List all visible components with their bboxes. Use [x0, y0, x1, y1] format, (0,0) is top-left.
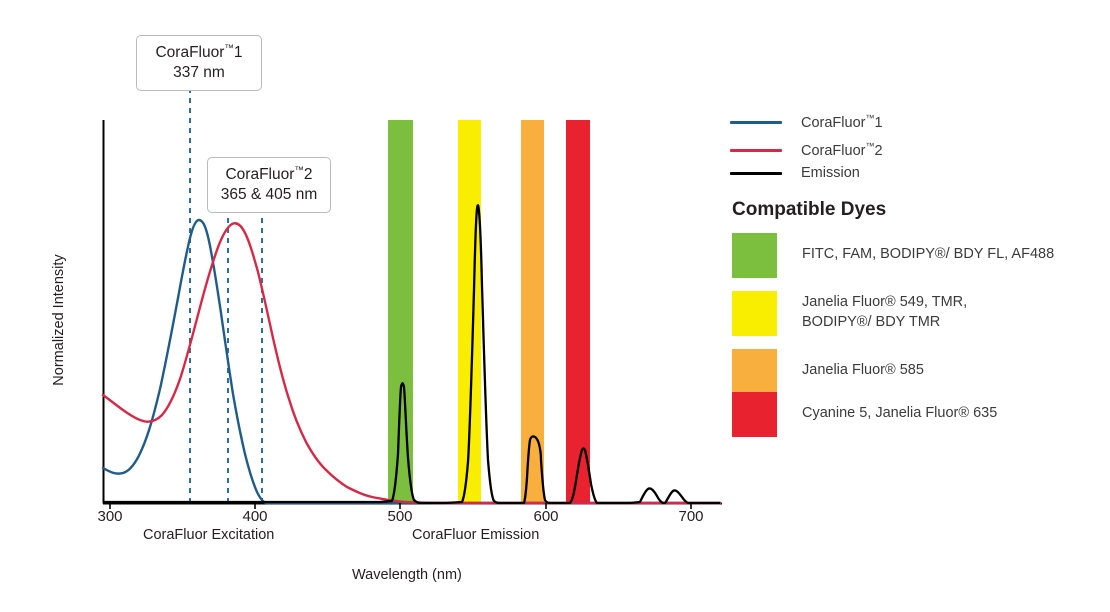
legend-line-swatch-corafluor-1 [730, 121, 782, 124]
dye-label-yellow: Janelia Fluor® 549, TMR, BODIPY®/ BDY TM… [802, 291, 967, 332]
callout-cf1-line2: 337 nm [147, 63, 251, 82]
dye-row-red: Cyanine 5, Janelia Fluor® 635 [732, 392, 997, 437]
dye-label-green: FITC, FAM, BODIPY®/ BDY FL, AF488 [802, 233, 1054, 265]
dye-swatch-yellow [732, 291, 777, 336]
plot-area: 300 400 500 600 700 CoraFluor Excitation… [0, 0, 730, 612]
dye-label-orange: Janelia Fluor® 585 [802, 349, 924, 381]
emission-range-label: CoraFluor Emission [412, 527, 539, 543]
fluorescence-spectra-figure: 300 400 500 600 700 CoraFluor Excitation… [0, 0, 1110, 612]
band-orange [521, 120, 544, 503]
y-axis-title: Normalized Intensity [51, 240, 67, 400]
legend-panel: CoraFluor™1 CoraFluor™2 Emission Compati… [728, 0, 1110, 612]
dye-label-red: Cyanine 5, Janelia Fluor® 635 [802, 392, 997, 424]
legend-line-swatch-emission [730, 172, 782, 175]
xtick-300: 300 [97, 508, 122, 525]
legend-label-corafluor-1: CoraFluor™1 [801, 113, 883, 131]
legend-label-corafluor-2: CoraFluor™2 [801, 141, 883, 159]
xtick-500: 500 [387, 508, 412, 525]
legend-label-emission: Emission [801, 165, 860, 181]
excitation-marker-lines [190, 88, 262, 503]
callout-cf2-line1: CoraFluor™2 [218, 165, 320, 185]
callout-corafluor-1: CoraFluor™1 337 nm [136, 35, 262, 91]
band-red [566, 120, 590, 503]
xtick-700: 700 [678, 508, 703, 525]
excitation-range-label: CoraFluor Excitation [143, 527, 274, 543]
dye-row-orange: Janelia Fluor® 585 [732, 349, 924, 394]
callout-cf1-line1: CoraFluor™1 [147, 43, 251, 63]
band-green [388, 120, 413, 503]
xtick-600: 600 [533, 508, 558, 525]
legend-series-emission: Emission [730, 164, 860, 182]
compatible-dyes-heading: Compatible Dyes [732, 199, 886, 221]
dye-row-green: FITC, FAM, BODIPY®/ BDY FL, AF488 [732, 233, 1054, 278]
x-axis-title: Wavelength (nm) [352, 567, 462, 583]
callout-cf2-line2: 365 & 405 nm [218, 185, 320, 204]
dye-swatch-orange [732, 349, 777, 394]
xtick-400: 400 [242, 508, 267, 525]
dye-swatch-red [732, 392, 777, 437]
dye-row-yellow: Janelia Fluor® 549, TMR, BODIPY®/ BDY TM… [732, 291, 967, 336]
dye-bands [388, 120, 590, 503]
dye-swatch-green [732, 233, 777, 278]
legend-line-swatch-corafluor-2 [730, 149, 782, 152]
callout-corafluor-2: CoraFluor™2 365 & 405 nm [207, 157, 331, 213]
legend-series-corafluor-1: CoraFluor™1 [730, 113, 883, 131]
legend-series-corafluor-2: CoraFluor™2 [730, 141, 883, 159]
